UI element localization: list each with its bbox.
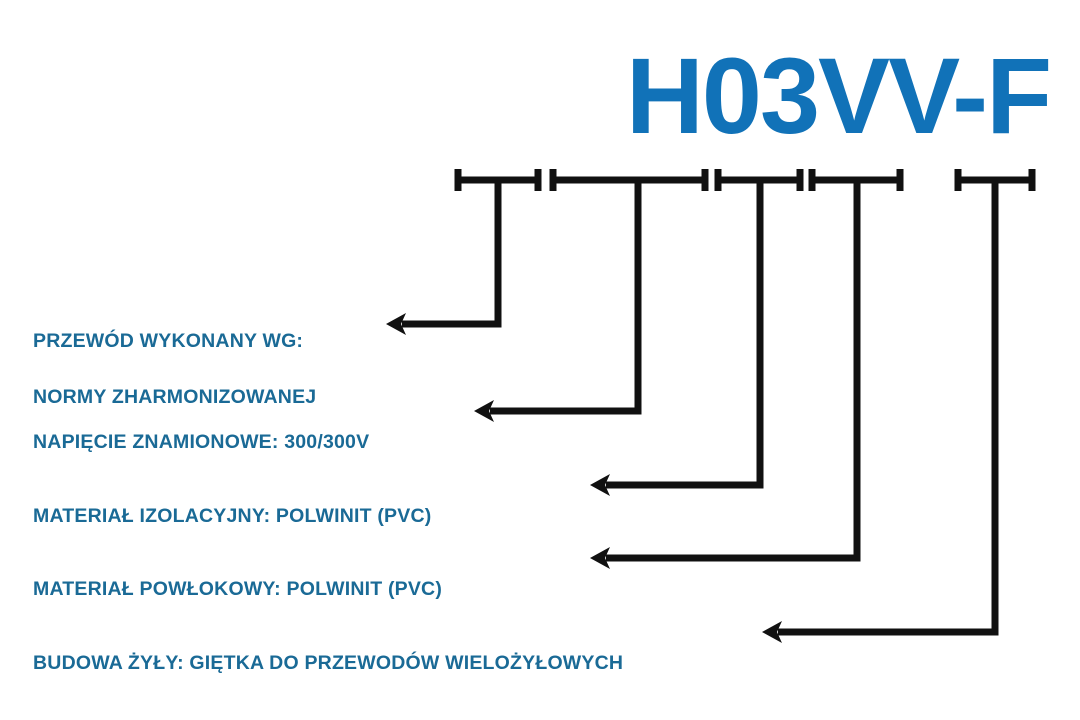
brackets-group [458,169,1032,191]
leader-line [778,180,995,632]
segment-label-1-line-1: PRZEWÓD WYKONANY WG: [33,327,316,355]
segment-label-3: MATERIAŁ IZOLACYJNY: POLWINIT (PVC) [33,474,431,558]
segment-label-4: MATERIAŁ POWŁOKOWY: POLWINIT (PVC) [33,547,442,631]
leader-line [606,180,760,485]
leader-line [402,180,498,324]
segment-label-5: BUDOWA ŻYŁY: GIĘTKA DO PRZEWODÓW WIELOŻY… [33,621,623,705]
arrowheads-group [386,313,782,643]
leader-line [490,180,638,411]
segment-label-2: NAPIĘCIE ZNAMIONOWE: 300/300V [33,400,369,484]
segment-label-5-line-1: BUDOWA ŻYŁY: GIĘTKA DO PRZEWODÓW WIELOŻY… [33,649,623,677]
segment-label-2-line-1: NAPIĘCIE ZNAMIONOWE: 300/300V [33,428,369,456]
leader-line [606,180,857,558]
segment-label-3-line-1: MATERIAŁ IZOLACYJNY: POLWINIT (PVC) [33,502,431,530]
cable-designation-diagram: H03VV-F PRZEWÓD WYKONANY WG: NORMY ZHARM… [0,0,1080,720]
segment-label-4-line-1: MATERIAŁ POWŁOKOWY: POLWINIT (PVC) [33,575,442,603]
